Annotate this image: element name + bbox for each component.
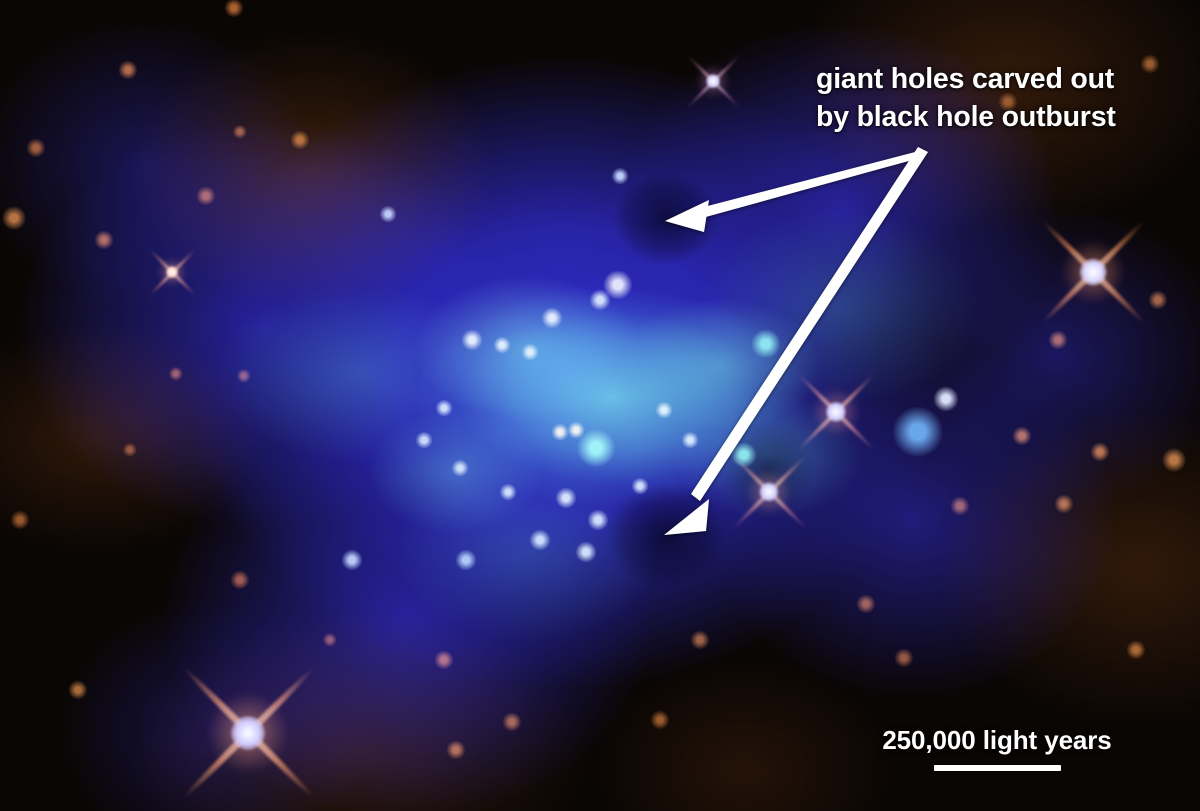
arrow-lower-cavity-head — [664, 499, 709, 535]
annotation-overlay: giant holes carved out by black hole out… — [0, 0, 1200, 811]
scale-bar-label: 250,000 light years — [842, 725, 1152, 756]
callout-line-2: by black hole outburst — [816, 98, 1188, 136]
arrow-group — [664, 147, 928, 535]
callout-line-1: giant holes carved out — [816, 60, 1188, 98]
galaxy-cluster-image: giant holes carved out by black hole out… — [0, 0, 1200, 811]
arrow-upper-cavity-head — [665, 200, 709, 232]
arrow-lower-cavity-shaft — [691, 147, 928, 501]
giant-holes-callout: giant holes carved out by black hole out… — [816, 60, 1188, 136]
scale-bar-line — [934, 765, 1061, 771]
scale-bar-group: 250,000 light years — [842, 725, 1152, 771]
